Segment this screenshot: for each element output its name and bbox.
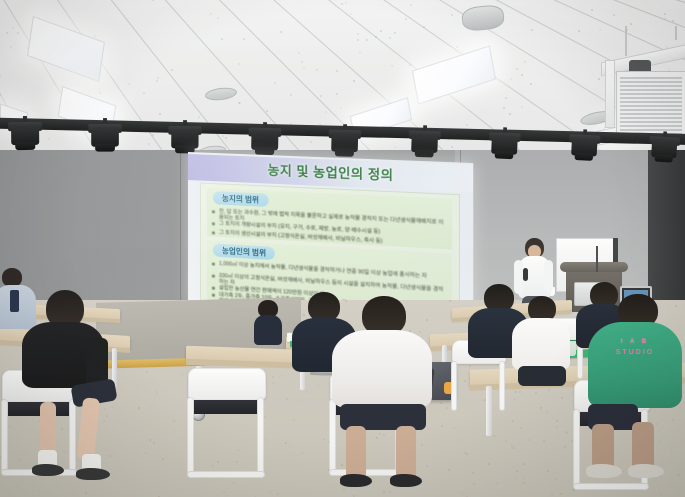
shirt-text-line1: I A B — [606, 339, 664, 345]
ceiling-texture-speck — [225, 137, 227, 139]
audience-member — [332, 296, 434, 446]
floor-texture-speck — [551, 493, 553, 495]
floor-texture-speck — [523, 463, 525, 465]
floor-texture-speck — [460, 439, 462, 441]
ceiling-texture-speck — [171, 69, 173, 71]
floor-texture-speck — [571, 440, 573, 442]
sneaker — [586, 464, 622, 478]
floor-texture-speck — [535, 392, 537, 394]
floor-texture-speck — [138, 387, 140, 389]
ceiling-texture-speck — [664, 18, 666, 20]
podium-top — [560, 262, 628, 272]
floor-texture-speck — [181, 374, 183, 376]
floor-texture-speck — [9, 426, 11, 428]
floor-texture-speck — [561, 397, 563, 399]
floor-texture-speck — [103, 420, 105, 422]
microphone — [523, 268, 528, 281]
floor-texture-speck — [573, 489, 575, 491]
floor-texture-speck — [138, 407, 140, 409]
ceiling-texture-speck — [94, 35, 96, 37]
table-leg — [486, 386, 492, 436]
ceiling-texture-speck — [217, 17, 219, 19]
stage-light — [248, 126, 281, 155]
floor-texture-speck — [323, 438, 325, 440]
ceiling-texture-speck — [357, 33, 359, 35]
torso: I A B STUDIO — [588, 322, 682, 408]
floor-texture-speck — [493, 435, 495, 437]
ceiling-texture-speck — [410, 4, 412, 6]
ceiling-texture-speck — [320, 95, 322, 97]
floor-texture-speck — [112, 406, 114, 408]
floor-texture-speck — [109, 455, 111, 457]
ceiling-texture-speck — [336, 93, 338, 95]
floor-texture-speck — [556, 426, 558, 428]
torso — [332, 330, 432, 408]
slide-section-pill: 농지의 범위 — [213, 191, 268, 207]
ceiling-texture-speck — [391, 65, 393, 67]
sneaker — [628, 464, 664, 478]
ceiling-texture-speck — [152, 134, 154, 136]
audience-member — [512, 296, 572, 392]
floor-texture-speck — [448, 469, 450, 471]
ceiling-texture-speck — [531, 29, 533, 31]
floor-texture-speck — [276, 447, 278, 449]
floor-texture-speck — [327, 488, 329, 490]
floor-texture-speck — [233, 482, 235, 484]
audience-member-green-shirt: I A B STUDIO — [588, 294, 683, 454]
ceiling-texture-speck — [591, 9, 593, 11]
ceiling-texture-speck — [394, 146, 396, 148]
ceiling-texture-speck — [405, 18, 407, 20]
ceiling-texture-speck — [128, 83, 130, 85]
floor-texture-speck — [85, 492, 87, 494]
floor-texture-speck — [341, 464, 343, 466]
ceiling-texture-speck — [303, 67, 305, 69]
audience-member — [254, 300, 282, 344]
floor-texture-speck — [173, 420, 175, 422]
floor-texture-speck — [298, 401, 300, 403]
ceiling-texture-speck — [336, 70, 338, 72]
ceiling-texture-speck — [280, 31, 282, 33]
ceiling-texture-speck — [77, 84, 79, 86]
ceiling-texture-speck — [222, 135, 224, 137]
floor-texture-speck — [472, 472, 474, 474]
ceiling-texture-speck — [630, 23, 632, 25]
ceiling-texture-speck — [17, 32, 19, 34]
floor-texture-speck — [516, 470, 518, 472]
shoe — [390, 474, 422, 487]
ceiling-texture-speck — [12, 27, 14, 29]
floor-texture-speck — [564, 446, 566, 448]
stage-light — [168, 125, 201, 154]
ceiling-texture-speck — [156, 80, 158, 82]
leg-shin — [632, 422, 654, 470]
floor-texture-speck — [488, 463, 490, 465]
ceiling-texture-speck — [578, 30, 580, 32]
ceiling-texture-speck — [157, 77, 159, 79]
ceiling-texture-speck — [239, 102, 241, 104]
ceiling-texture-speck — [266, 110, 268, 112]
stage-light — [488, 132, 521, 161]
floor-texture-speck — [461, 493, 463, 495]
floor-texture-speck — [162, 458, 164, 460]
ceiling-texture-speck — [509, 113, 511, 115]
ceiling-texture-speck — [238, 63, 240, 65]
curtain — [648, 150, 685, 315]
floor-texture-speck — [494, 407, 496, 409]
floor-texture-speck — [38, 490, 40, 492]
floor-texture-speck — [237, 449, 239, 451]
ceiling-texture-speck — [345, 2, 347, 4]
floor-texture-speck — [156, 391, 158, 393]
torso — [512, 318, 570, 370]
floor-texture-speck — [547, 470, 549, 472]
lecture-hall-photo: 농지 및 농업인의 정의 농지의 범위 전, 답 또는 과수원, 그 밖에 법적… — [0, 0, 685, 497]
ceiling-texture-speck — [389, 37, 391, 39]
ceiling-texture-speck — [48, 138, 50, 140]
floor-texture-speck — [540, 407, 542, 409]
ceiling-texture-speck — [159, 113, 161, 115]
ceiling-texture-speck — [310, 141, 312, 143]
floor-texture-speck — [383, 491, 385, 493]
floor-texture-speck — [522, 478, 524, 480]
floor-texture-speck — [469, 365, 471, 367]
floor-texture-speck — [353, 495, 355, 497]
floor-texture-speck — [523, 482, 525, 484]
floor-texture-speck — [226, 487, 228, 489]
floor-texture-speck — [515, 477, 517, 479]
stage-light — [568, 133, 600, 162]
audience-member — [18, 290, 110, 420]
ceiling-texture-speck — [210, 13, 212, 15]
floor-texture-speck — [286, 398, 288, 400]
floor-texture-speck — [543, 440, 545, 442]
ceiling-texture-speck — [6, 32, 8, 34]
ceiling-texture-speck — [152, 0, 154, 1]
ceiling-texture-speck — [524, 61, 526, 63]
floor-texture-speck — [514, 398, 516, 400]
floor-texture-speck — [145, 452, 147, 454]
floor-texture-speck — [546, 411, 548, 413]
leg-shin — [346, 426, 366, 480]
floor-texture-speck — [389, 491, 391, 493]
ceiling-texture-speck — [530, 83, 532, 85]
ceiling-texture-speck — [10, 46, 12, 48]
floor-texture-speck — [36, 439, 38, 441]
floor-texture-speck — [440, 402, 442, 404]
ceiling-texture-speck — [510, 78, 512, 80]
floor-texture-speck — [453, 427, 455, 429]
floor-texture-speck — [512, 420, 514, 422]
floor-texture-speck — [466, 453, 468, 455]
floor-texture-speck — [279, 375, 281, 377]
ceiling-texture-speck — [451, 146, 453, 148]
ceiling-texture-speck — [357, 39, 359, 41]
floor-texture-speck — [660, 494, 662, 496]
floor-texture-speck — [317, 385, 319, 387]
floor-texture-speck — [306, 391, 308, 393]
ceiling-texture-speck — [340, 107, 342, 109]
ceiling-texture-speck — [221, 38, 223, 40]
floor-texture-speck — [217, 461, 219, 463]
ceiling-texture-speck — [298, 52, 300, 54]
floor-texture-speck — [566, 432, 568, 434]
floor-texture-speck — [441, 425, 443, 427]
floor-texture-speck — [289, 445, 291, 447]
ceiling-texture-speck — [243, 38, 245, 40]
ceiling-texture-speck — [380, 30, 382, 32]
ceiling-texture-speck — [456, 46, 458, 48]
floor-texture-speck — [528, 439, 530, 441]
floor-texture-speck — [149, 439, 151, 441]
floor-texture-speck — [678, 474, 680, 476]
ceiling-texture-speck — [316, 69, 318, 71]
ceiling-texture-speck — [353, 80, 355, 82]
floor-texture-speck — [173, 431, 175, 433]
floor-texture-speck — [513, 447, 515, 449]
shoe — [32, 464, 64, 476]
floor-texture-speck — [63, 451, 65, 453]
hvac-grill — [617, 72, 685, 140]
floor-texture-speck — [151, 406, 153, 408]
floor-texture-speck — [264, 416, 266, 418]
floor-texture-speck — [343, 489, 345, 491]
ceiling-texture-speck — [301, 61, 303, 63]
ceiling-texture-speck — [350, 13, 352, 15]
presenter-arm — [544, 260, 553, 292]
floor-texture-speck — [496, 482, 498, 484]
ceiling-texture-speck — [359, 52, 361, 54]
floor-texture-speck — [212, 465, 214, 467]
floor-texture-speck — [302, 452, 304, 454]
ceiling-texture-speck — [516, 68, 518, 70]
floor-texture-speck — [520, 427, 522, 429]
ceiling-texture-speck — [394, 32, 396, 34]
floor-texture-speck — [449, 300, 451, 302]
floor-texture-speck — [272, 376, 274, 378]
ceiling-texture-speck — [99, 92, 101, 94]
floor-texture-speck — [277, 493, 279, 495]
shirt-text-line2: STUDIO — [606, 349, 664, 356]
ceiling-texture-speck — [672, 20, 674, 22]
ceiling-texture-speck — [98, 88, 100, 90]
stage-light — [8, 121, 42, 151]
floor-texture-speck — [223, 491, 225, 493]
skirt — [518, 366, 566, 386]
ceiling-texture-speck — [0, 75, 1, 77]
ceiling-texture-speck — [20, 103, 22, 105]
ceiling-texture-speck — [664, 13, 666, 15]
ceiling-texture-speck — [503, 107, 505, 109]
ceiling-texture-speck — [521, 106, 523, 108]
ceiling-texture-speck — [613, 14, 615, 16]
ceiling-texture-speck — [198, 116, 200, 118]
ceiling-texture-speck — [325, 111, 327, 113]
stage-light — [88, 123, 122, 153]
ceiling-texture-speck — [83, 90, 85, 92]
ceiling-texture-speck — [290, 94, 292, 96]
floor-texture-speck — [285, 442, 287, 444]
floor-texture-speck — [265, 439, 267, 441]
ceiling-texture-speck — [505, 97, 507, 99]
floor-texture-speck — [17, 487, 19, 489]
floor-texture-speck — [269, 492, 271, 494]
floor-texture-speck — [505, 440, 507, 442]
floor-texture-speck — [464, 380, 466, 382]
floor-texture-speck — [556, 420, 558, 422]
floor-texture-speck — [463, 491, 465, 493]
microphone-stand — [596, 246, 598, 272]
stage-light — [408, 130, 441, 159]
floor-texture-speck — [267, 367, 269, 369]
ceiling-texture-speck — [148, 143, 150, 145]
ceiling-texture-speck — [274, 82, 276, 84]
shoe — [76, 468, 110, 480]
floor-texture-speck — [555, 478, 557, 480]
stage-light — [328, 128, 361, 157]
torso — [254, 315, 282, 345]
leg-shin — [396, 426, 416, 480]
floor-texture-speck — [293, 419, 295, 421]
floor-texture-speck — [426, 465, 428, 467]
floor-texture-speck — [560, 493, 562, 495]
ceiling-texture-speck — [451, 14, 453, 16]
floor-texture-speck — [153, 442, 155, 444]
stage-light — [648, 135, 680, 164]
ceiling-texture-speck — [466, 124, 468, 126]
ceiling-texture-speck — [341, 3, 343, 5]
floor-texture-speck — [473, 483, 475, 485]
ceiling-texture-speck — [143, 92, 145, 94]
floor-texture-speck — [18, 459, 20, 461]
floor-texture-speck — [446, 407, 448, 409]
floor-texture-speck — [146, 371, 148, 373]
ceiling-texture-speck — [366, 39, 368, 41]
floor-texture-speck — [272, 382, 274, 384]
ceiling-texture-speck — [521, 74, 523, 76]
shoe — [340, 474, 372, 487]
floor-texture-speck — [61, 428, 63, 430]
floor-texture-speck — [236, 461, 238, 463]
